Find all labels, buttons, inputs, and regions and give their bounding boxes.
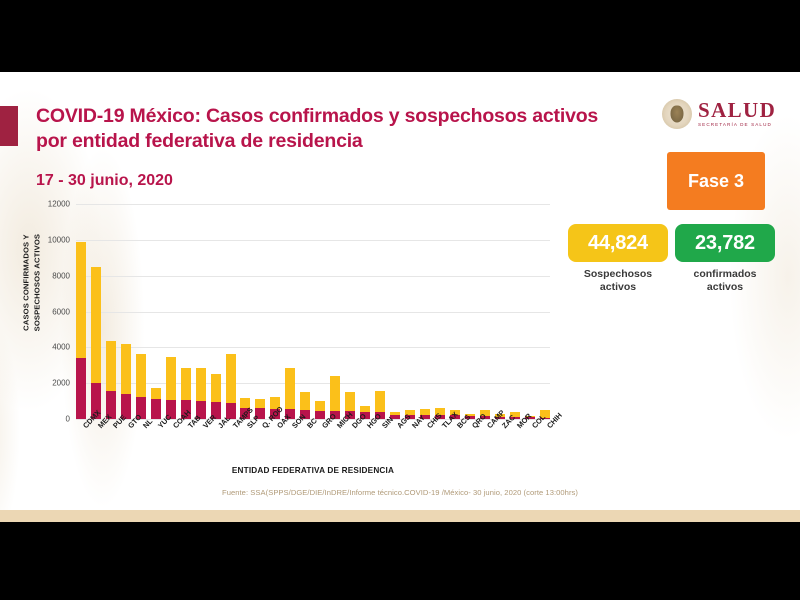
y-axis-title: CASOS CONFIRMADOS Y SOSPECHOSOS ACTIVOS — [21, 209, 42, 357]
bar-column — [181, 204, 191, 419]
bar-column — [390, 204, 400, 419]
x-axis-tick-label: COL — [525, 422, 535, 466]
y-axis-tick-label: 6000 — [32, 307, 70, 316]
bar-column — [91, 204, 101, 419]
page-subtitle: 17 - 30 junio, 2020 — [36, 172, 636, 190]
bar-segment-sospechosos — [330, 376, 340, 411]
salud-sub-wordmark: SECRETARÍA DE SALUD — [698, 123, 776, 128]
x-axis-tick-label: MEX — [91, 422, 101, 466]
x-axis-ticks: CDMXMEXPUEGTONLYUCCOAHTABVERJALTAMPSSLPQ… — [76, 422, 550, 466]
confirmados-caption: confirmados activos — [675, 268, 775, 294]
x-axis-tick-label: CHIS — [420, 422, 430, 466]
letterbox-top — [0, 0, 800, 72]
bar-series-group — [76, 204, 550, 419]
bar-column — [240, 204, 250, 419]
bar-segment-sospechosos — [136, 354, 146, 397]
y-axis-tick-label: 2000 — [32, 379, 70, 388]
plot-area: 020004000600080001000012000 — [76, 204, 550, 419]
letterbox-bottom — [0, 522, 800, 600]
x-axis-title: ENTIDAD FEDERATIVA DE RESIDENCIA — [76, 466, 550, 475]
x-axis-tick-label: QRO — [465, 422, 475, 466]
bottom-accent-band — [0, 510, 800, 522]
bar-column — [345, 204, 355, 419]
bar-column — [480, 204, 490, 419]
bar-column — [255, 204, 265, 419]
x-axis-tick-label: BC — [300, 422, 310, 466]
bar-column — [121, 204, 131, 419]
salud-wordmark-group: SALUD SECRETARÍA DE SALUD — [698, 100, 776, 128]
salud-logo: SALUD SECRETARÍA DE SALUD — [662, 99, 776, 129]
y-axis-tick-label: 12000 — [32, 200, 70, 209]
bar-column — [136, 204, 146, 419]
bar-column — [510, 204, 520, 419]
bar-column — [360, 204, 370, 419]
confirmados-value: 23,782 — [675, 224, 775, 262]
bar-segment-sospechosos — [121, 344, 131, 394]
source-note: Fuente: SSA(SPPS/DGE/DIE/InDRE/Informe t… — [0, 488, 800, 497]
bar-segment-sospechosos — [76, 242, 86, 358]
bar-segment-sospechosos — [300, 392, 310, 410]
bar-column — [166, 204, 176, 419]
bar-segment-sospechosos — [181, 368, 191, 400]
x-axis-tick-label: ZAC — [495, 422, 505, 466]
bar-column — [375, 204, 385, 419]
x-axis-tick-label: TLAX — [435, 422, 445, 466]
x-axis-tick-label: CHIH — [540, 422, 550, 466]
x-axis-tick-label: VER — [196, 422, 206, 466]
x-axis-tick-label: MOR — [510, 422, 520, 466]
bar-column — [270, 204, 280, 419]
bar-column — [330, 204, 340, 419]
x-axis-tick-label: CDMX — [76, 422, 86, 466]
bar-segment-sospechosos — [166, 357, 176, 399]
x-axis-tick-label: SLP — [240, 422, 250, 466]
x-axis-tick-label: Q. ROO — [255, 422, 265, 466]
page-title-line-1: COVID-19 México: Casos confirmados y sos… — [36, 105, 598, 127]
x-axis-tick-label: HGO — [360, 422, 370, 466]
stat-card-sospechosos: 44,824 Sospechosos activos — [568, 224, 668, 294]
x-axis-tick-label: SON — [285, 422, 295, 466]
bar-column — [285, 204, 295, 419]
sospechosos-value: 44,824 — [568, 224, 668, 262]
bar-segment-sospechosos — [255, 399, 265, 408]
bar-column — [450, 204, 460, 419]
x-axis-tick-label: JAL — [211, 422, 221, 466]
bar-segment-sospechosos — [196, 368, 206, 400]
bar-segment-sospechosos — [151, 388, 161, 399]
bar-chart: CASOS CONFIRMADOS Y SOSPECHOSOS ACTIVOS … — [30, 204, 550, 454]
background-watermark-right — [680, 72, 800, 522]
title-block: COVID-19 México: Casos confirmados y sos… — [36, 104, 636, 190]
x-axis-tick-label: PUE — [106, 422, 116, 466]
page-title-line-2: por entidad federativa de residencia — [36, 130, 363, 152]
bar-segment-sospechosos — [211, 374, 221, 402]
phase-badge: Fase 3 — [667, 152, 765, 210]
bar-segment-sospechosos — [315, 401, 325, 411]
sospechosos-caption: Sospechosos activos — [568, 268, 668, 294]
bar-column — [540, 204, 550, 419]
bar-column — [196, 204, 206, 419]
bar-segment-sospechosos — [91, 267, 101, 383]
bar-column — [226, 204, 236, 419]
bar-column — [435, 204, 445, 419]
x-axis-tick-label: MICH — [330, 422, 340, 466]
bar-segment-sospechosos — [106, 341, 116, 390]
stat-card-confirmados: 23,782 confirmados activos — [675, 224, 775, 294]
bar-segment-sospechosos — [226, 354, 236, 402]
x-axis-tick-label: NAY — [405, 422, 415, 466]
stats-row: 44,824 Sospechosos activos 23,782 confir… — [568, 224, 778, 294]
bar-segment-sospechosos — [375, 391, 385, 413]
x-axis-tick-label: GTO — [121, 422, 131, 466]
y-axis-tick-label: 0 — [32, 415, 70, 424]
x-axis-tick-label: NL — [136, 422, 146, 466]
y-axis-tick-label: 10000 — [32, 235, 70, 244]
x-axis-tick-label: CAMP — [480, 422, 490, 466]
x-axis-tick-label: YUC — [151, 422, 161, 466]
x-axis-tick-label: OAX — [270, 422, 280, 466]
bar-column — [76, 204, 86, 419]
y-axis-tick-label: 4000 — [32, 343, 70, 352]
salud-wordmark: SALUD — [698, 100, 776, 121]
x-axis-tick-label: AGS — [390, 422, 400, 466]
bar-segment-confirmados — [315, 411, 325, 419]
bar-column — [106, 204, 116, 419]
bar-segment-sospechosos — [285, 368, 295, 409]
title-accent-bar — [0, 106, 18, 146]
bar-column — [300, 204, 310, 419]
bar-segment-confirmados — [76, 358, 86, 419]
page-title: COVID-19 México: Casos confirmados y sos… — [36, 104, 636, 154]
x-axis-tick-label: DGO — [345, 422, 355, 466]
bar-column — [151, 204, 161, 419]
x-axis-tick-label: BCS — [450, 422, 460, 466]
x-axis-tick-label: TAB — [181, 422, 191, 466]
bar-column — [420, 204, 430, 419]
x-axis-tick-label: GRO — [315, 422, 325, 466]
x-axis-tick-label: TAMPS — [226, 422, 236, 466]
bar-column — [525, 204, 535, 419]
bar-column — [465, 204, 475, 419]
slide-canvas: COVID-19 México: Casos confirmados y sos… — [0, 72, 800, 522]
bar-column — [405, 204, 415, 419]
bar-segment-sospechosos — [345, 392, 355, 412]
mexican-eagle-seal-icon — [662, 99, 692, 129]
bar-column — [495, 204, 505, 419]
x-axis-tick-label: COAH — [166, 422, 176, 466]
x-axis-tick-label: SIN — [375, 422, 385, 466]
bar-column — [211, 204, 221, 419]
bar-segment-confirmados — [151, 399, 161, 419]
bar-column — [315, 204, 325, 419]
y-axis-tick-label: 8000 — [32, 271, 70, 280]
